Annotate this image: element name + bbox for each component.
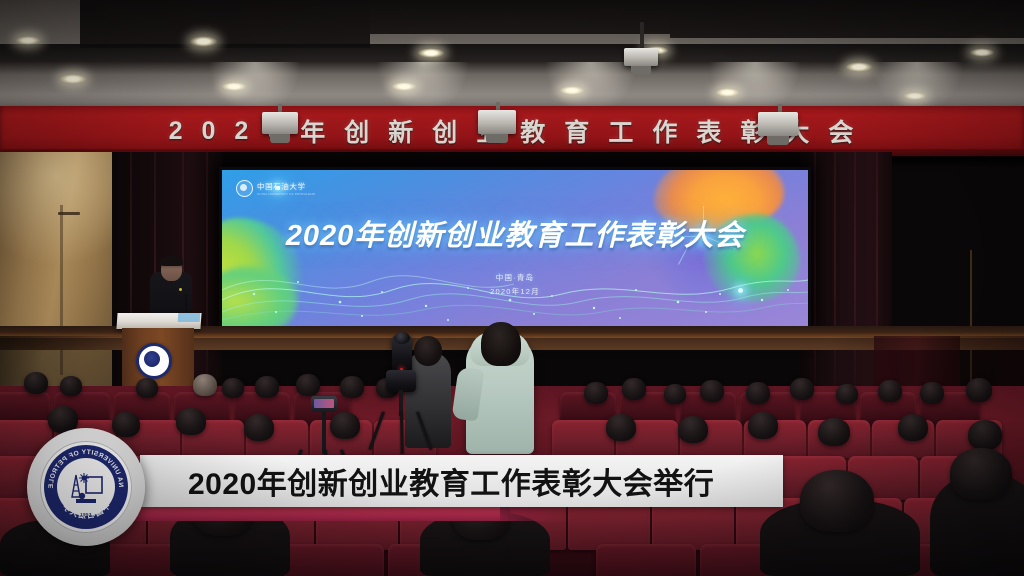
- screen-university-logo: 中国石油大学 CHINA UNIVERSITY OF PETROLEUM: [236, 180, 315, 197]
- ceiling-projector: [624, 48, 658, 66]
- downlight: [560, 86, 584, 95]
- banner-char: 作: [652, 113, 679, 149]
- banner-char: 工: [608, 113, 635, 149]
- audience-head: [193, 374, 217, 396]
- audience-head: [112, 412, 140, 437]
- audience-head: [920, 382, 944, 404]
- audience-head: [968, 420, 1002, 450]
- badge-founded-year: 1953: [40, 512, 132, 517]
- screen-title: 2020年创新创业教育工作表彰大会: [222, 212, 808, 254]
- banner-char: 0: [201, 117, 217, 146]
- audience-head: [678, 416, 708, 443]
- audience-head: [622, 378, 646, 400]
- banner-char: 教: [520, 113, 547, 149]
- audience-head: [606, 414, 636, 441]
- speaker-lapel-pin: [179, 288, 182, 291]
- projection-screen: 中国石油大学 CHINA UNIVERSITY OF PETROLEUM 202…: [222, 170, 808, 326]
- banner-char: 表: [696, 113, 723, 149]
- screen-subtitle-location: 中国·青岛: [222, 272, 808, 283]
- screen-logo-cn-text: 中国石油大学: [257, 181, 315, 192]
- banner-char: 年: [300, 113, 327, 149]
- seat: [552, 420, 614, 458]
- caption-bar: 2020年创新创业教育工作表彰大会举行: [140, 455, 783, 507]
- audience-head: [836, 384, 858, 404]
- audience-head: [584, 382, 608, 404]
- university-crest-icon: [62, 463, 110, 511]
- audience-head: [700, 380, 724, 402]
- audience-head: [340, 376, 364, 398]
- screen-subtitle-date: 2020年12月: [222, 286, 808, 297]
- audience-head: [746, 382, 770, 404]
- audience-head: [664, 384, 686, 404]
- audience-person-hoodie-head: [481, 322, 521, 366]
- downlight: [970, 48, 994, 57]
- banner-char: 育: [564, 113, 591, 149]
- university-mark-icon: [236, 180, 253, 197]
- ceiling-bay-mid: [370, 0, 670, 34]
- banner-char: 创: [432, 113, 459, 149]
- downlight: [190, 36, 217, 47]
- audience-head: [748, 412, 778, 439]
- screenshot-frame: 2 0 2 0 年 创 新 创 业 教 育 工 作 表 彰 大 会: [0, 0, 1024, 576]
- audience-head: [950, 448, 1012, 500]
- audience-head: [176, 408, 206, 435]
- podium-crest-icon: [136, 343, 172, 379]
- downlight: [60, 74, 86, 84]
- audience-head: [60, 376, 82, 396]
- audience-head: [818, 418, 850, 446]
- downlight: [846, 62, 872, 72]
- seat: [596, 544, 696, 576]
- audience-head: [296, 374, 320, 396]
- video-camera-head: [386, 370, 416, 392]
- banner-char: 2: [234, 117, 250, 146]
- audience-head: [800, 470, 874, 532]
- banner-char: 2: [169, 117, 185, 146]
- banner-char: 会: [828, 113, 855, 149]
- video-camera-lens-icon: [394, 332, 410, 344]
- broadcaster-logo-badge: CHINA UNIVERSITY OF PETROLEUM 中国石油大学: [27, 428, 145, 546]
- banner-char: 新: [388, 113, 415, 149]
- audience-head: [24, 372, 48, 394]
- screen-logo-en-text: CHINA UNIVERSITY OF PETROLEUM: [257, 192, 315, 196]
- speaker-hair: [160, 256, 183, 266]
- projector-mount: [640, 22, 644, 48]
- downlight: [392, 82, 416, 91]
- audience-head: [330, 412, 360, 439]
- podium-top-paper: [178, 313, 201, 322]
- audience-head: [244, 414, 274, 441]
- ceiling-bay-left: [80, 0, 370, 48]
- audience-person-dark-jacket-head: [414, 336, 442, 366]
- audience-head: [966, 378, 992, 402]
- audience-head: [790, 378, 814, 400]
- tripod-column: [322, 410, 326, 454]
- downlight: [16, 36, 40, 45]
- phone-camera-screen: [314, 399, 334, 408]
- seat: [284, 544, 384, 576]
- banner-char: 创: [344, 113, 371, 149]
- audience-head: [255, 376, 279, 398]
- badge-core: [57, 458, 115, 516]
- stage-spotlight: [758, 112, 798, 136]
- stage-spotlight: [262, 112, 298, 134]
- stage-spotlight: [478, 110, 516, 134]
- ceiling-bay-right: [670, 0, 1024, 38]
- wall-bracket: [58, 212, 80, 215]
- audience-head: [898, 414, 928, 441]
- caption-accent-bar-fade: [500, 507, 570, 521]
- caption-accent-bar: [110, 507, 500, 521]
- downlight: [904, 92, 926, 100]
- downlight: [222, 82, 246, 91]
- audience-head: [222, 378, 244, 398]
- downlight: [716, 88, 739, 97]
- caption-headline: 2020年创新创业教育工作表彰大会举行: [188, 455, 714, 507]
- downlight: [418, 48, 444, 58]
- audience-head: [136, 378, 158, 398]
- audience-head: [878, 380, 902, 402]
- badge-inner: CHINA UNIVERSITY OF PETROLEUM 中国石油大学: [40, 441, 132, 533]
